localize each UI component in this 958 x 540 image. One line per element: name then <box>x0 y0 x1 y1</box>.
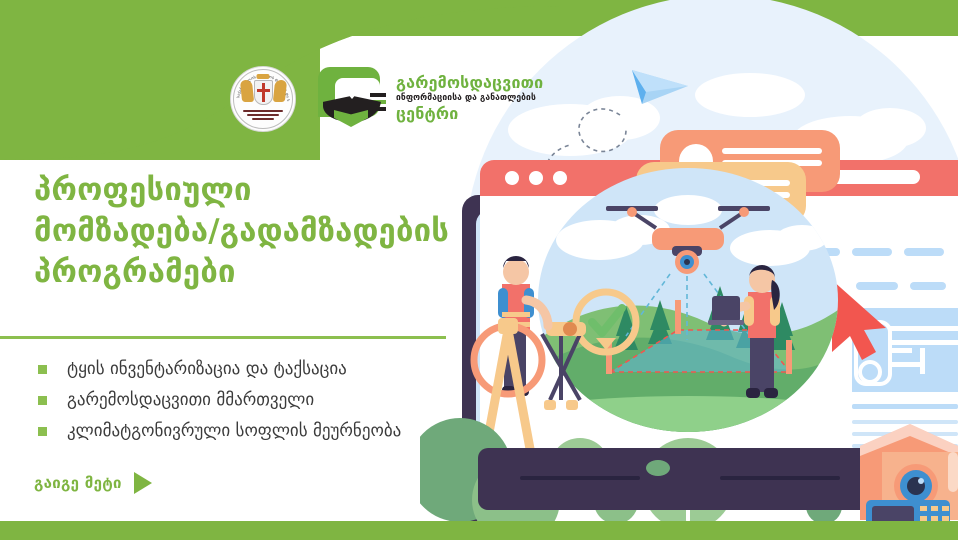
center-logo-mark-icon <box>318 67 388 131</box>
headline-line-3: პროგრამები <box>34 252 470 293</box>
bullet-square-icon <box>38 365 47 374</box>
page-title: პროფესიული მომზადება/გადამზადების პროგრა… <box>0 170 470 293</box>
play-triangle-icon <box>134 472 152 494</box>
list-item: კლიმატგონივრული სოფლის მეურნეობა <box>0 418 470 444</box>
logo-text-block: გარემოსდაცვითი ინფორმაციისა და განათლები… <box>396 75 543 122</box>
list-item-label: გარემოსდაცვითი მმართველი <box>67 390 314 410</box>
bottom-green-band <box>0 521 958 540</box>
browser-dot <box>529 171 543 185</box>
list-item: ტყის ინვენტარიზაცია და ტაქსაცია <box>0 356 470 382</box>
headline-line-1: პროფესიული <box>34 170 470 211</box>
headline-block: პროფესიული მომზადება/გადამზადების პროგრა… <box>0 170 470 293</box>
list-item-label: ტყის ინვენტარიზაცია და ტაქსაცია <box>67 359 347 379</box>
program-list: ტყის ინვენტარიზაცია და ტაქსაცია გარემოსდ… <box>0 356 470 449</box>
logo-line-1: გარემოსდაცვითი <box>396 75 543 92</box>
headline-line-2: მომზადება/გადამზადების <box>34 211 470 252</box>
slide-canvas: საქართველოს გარემოს დაცვისა და სოფლის მე… <box>0 0 958 540</box>
bullet-square-icon <box>38 427 47 436</box>
list-item-label: კლიმატგონივრული სოფლის მეურნეობა <box>67 421 401 441</box>
list-item: გარემოსდაცვითი მმართველი <box>0 387 470 413</box>
ministry-seal-icon: საქართველოს გარემოს დაცვისა და სოფლის მე… <box>230 66 296 132</box>
learn-more-button[interactable]: გაიგე მეტი <box>34 472 152 494</box>
logo-lockup: საქართველოს გარემოს დაცვისა და სოფლის მე… <box>230 58 543 140</box>
divider-line <box>0 336 446 339</box>
learn-more-label: გაიგე მეტი <box>34 474 122 492</box>
logo-line-3: ცენტრი <box>396 105 543 123</box>
browser-dot <box>505 171 519 185</box>
browser-dot <box>553 171 567 185</box>
bullet-square-icon <box>38 396 47 405</box>
